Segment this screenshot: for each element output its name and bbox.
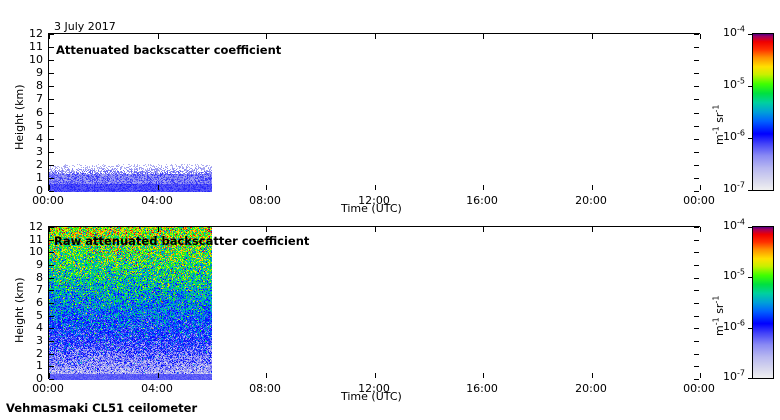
- y-tick-label: 6: [27, 297, 43, 308]
- y-tick-label: 5: [27, 120, 43, 131]
- x-tick-mark: [266, 185, 267, 190]
- y-tick-label: 7: [27, 284, 43, 295]
- y-tick-mark: [49, 303, 54, 304]
- y-tick-mark-right: [694, 113, 699, 114]
- y-tick-mark: [49, 354, 54, 355]
- y-tick-mark-right: [694, 191, 699, 192]
- y-tick-mark-right: [694, 328, 699, 329]
- y-tick-mark-right: [694, 379, 699, 380]
- x-tick-label: 00:00: [676, 195, 722, 206]
- y-tick-label: 3: [27, 146, 43, 157]
- x-tick-mark: [49, 185, 50, 190]
- x-tick-mark: [158, 373, 159, 378]
- colorbar-tick-mark: [748, 378, 753, 379]
- colorbar-tick-label: 10-5: [703, 79, 745, 90]
- x-tick-mark-top: [158, 34, 159, 39]
- colorbar-tick-mark: [748, 277, 753, 278]
- x-tick-label: 20:00: [568, 383, 614, 394]
- y-tick-mark: [49, 265, 54, 266]
- y-tick-mark: [49, 165, 54, 166]
- x-tick-mark-top: [266, 227, 267, 232]
- x-tick-label: 04:00: [134, 383, 180, 394]
- x-tick-label: 16:00: [459, 383, 505, 394]
- colorbar-tick-label: 10-7: [703, 183, 745, 194]
- x-tick-mark: [483, 373, 484, 378]
- colorbar2-gradient: [753, 227, 773, 378]
- panel1-title: Attenuated backscatter coefficient: [54, 44, 283, 58]
- x-tick-label: 12:00: [351, 195, 397, 206]
- y-tick-mark: [49, 73, 54, 74]
- y-tick-mark-right: [694, 252, 699, 253]
- panel2-heatmap-canvas: [49, 227, 701, 380]
- x-tick-mark-top: [700, 34, 701, 39]
- y-tick-mark: [49, 316, 54, 317]
- y-tick-label: 5: [27, 310, 43, 321]
- y-tick-mark: [49, 278, 54, 279]
- y-tick-mark: [49, 152, 54, 153]
- colorbar-tick-mark: [748, 190, 753, 191]
- colorbar-tick-mark: [748, 86, 753, 87]
- x-tick-label: 00:00: [25, 383, 71, 394]
- colorbar-tick-mark: [748, 34, 753, 35]
- x-tick-mark: [700, 373, 701, 378]
- x-tick-mark-top: [158, 227, 159, 232]
- y-tick-label: 8: [27, 80, 43, 91]
- colorbar-tick-mark: [748, 138, 753, 139]
- panel1-y-axis-title: Height (km): [14, 84, 25, 150]
- y-tick-label: 9: [27, 259, 43, 270]
- y-tick-mark: [49, 341, 54, 342]
- x-tick-mark: [375, 373, 376, 378]
- y-tick-label: 8: [27, 272, 43, 283]
- x-tick-label: 00:00: [25, 195, 71, 206]
- y-tick-label: 3: [27, 335, 43, 346]
- y-tick-mark: [49, 191, 54, 192]
- x-tick-mark-top: [266, 34, 267, 39]
- y-tick-mark: [49, 60, 54, 61]
- y-tick-label: 11: [27, 41, 43, 52]
- panel2-title: Raw attenuated backscatter coefficient: [54, 236, 309, 248]
- y-tick-mark-right: [694, 303, 699, 304]
- x-tick-mark: [158, 185, 159, 190]
- colorbar-tick-label: 10-4: [703, 220, 745, 231]
- y-tick-mark-right: [694, 290, 699, 291]
- y-tick-mark-right: [694, 265, 699, 266]
- y-tick-mark-right: [694, 240, 699, 241]
- y-tick-label: 2: [27, 348, 43, 359]
- y-tick-label: 12: [27, 28, 43, 39]
- x-tick-mark-top: [375, 34, 376, 39]
- colorbar-tick-label: 10-6: [703, 321, 745, 332]
- x-tick-label: 04:00: [134, 195, 180, 206]
- x-tick-label: 08:00: [242, 383, 288, 394]
- x-tick-mark-top: [49, 34, 50, 39]
- x-tick-mark: [49, 373, 50, 378]
- y-tick-mark: [49, 328, 54, 329]
- y-tick-mark-right: [694, 354, 699, 355]
- x-tick-mark-top: [700, 227, 701, 232]
- y-tick-mark-right: [694, 227, 699, 228]
- y-tick-label: 1: [27, 360, 43, 371]
- y-tick-mark-right: [694, 341, 699, 342]
- x-tick-mark-top: [592, 227, 593, 232]
- x-tick-mark-top: [483, 34, 484, 39]
- date-label: 3 July 2017: [54, 21, 116, 32]
- y-tick-mark-right: [694, 278, 699, 279]
- panel1-heatmap-canvas: [49, 34, 701, 192]
- y-tick-label: 10: [27, 54, 43, 65]
- y-tick-label: 4: [27, 133, 43, 144]
- x-tick-label: 00:00: [676, 383, 722, 394]
- x-tick-label: 16:00: [459, 195, 505, 206]
- y-tick-mark: [49, 366, 54, 367]
- y-tick-mark-right: [694, 99, 699, 100]
- y-tick-mark-right: [694, 139, 699, 140]
- y-tick-mark: [49, 178, 54, 179]
- x-tick-mark: [375, 185, 376, 190]
- y-tick-label: 6: [27, 107, 43, 118]
- panel2-y-axis-title: Height (km): [14, 277, 25, 343]
- x-tick-label: 08:00: [242, 195, 288, 206]
- colorbar-tick-label: 10-6: [703, 131, 745, 142]
- y-tick-mark-right: [694, 86, 699, 87]
- y-tick-mark-right: [694, 178, 699, 179]
- ceilometer-figure: 3 July 2017 Height (km) Attenuated backs…: [0, 0, 780, 420]
- x-tick-mark: [592, 373, 593, 378]
- y-tick-mark-right: [694, 316, 699, 317]
- y-tick-label: 2: [27, 159, 43, 170]
- y-tick-mark-right: [694, 126, 699, 127]
- y-tick-label: 12: [27, 221, 43, 232]
- y-tick-mark-right: [694, 165, 699, 166]
- colorbar-tick-label: 10-7: [703, 371, 745, 382]
- colorbar1-gradient: [753, 34, 773, 190]
- y-tick-mark-right: [694, 47, 699, 48]
- y-tick-mark: [49, 379, 54, 380]
- colorbar-tick-mark: [748, 328, 753, 329]
- colorbar-tick-label: 10-4: [703, 27, 745, 38]
- y-tick-label: 11: [27, 234, 43, 245]
- y-tick-label: 1: [27, 172, 43, 183]
- x-tick-mark: [592, 185, 593, 190]
- colorbar-tick-mark: [748, 227, 753, 228]
- panel2-plot-area: [48, 226, 700, 379]
- colorbar-tick-label: 10-5: [703, 270, 745, 281]
- x-tick-label: 20:00: [568, 195, 614, 206]
- x-tick-label: 12:00: [351, 383, 397, 394]
- x-tick-mark-top: [483, 227, 484, 232]
- y-tick-mark: [49, 99, 54, 100]
- y-tick-label: 9: [27, 67, 43, 78]
- x-tick-mark: [483, 185, 484, 190]
- y-tick-mark: [49, 290, 54, 291]
- x-tick-mark-top: [375, 227, 376, 232]
- y-tick-mark-right: [694, 366, 699, 367]
- y-tick-mark-right: [694, 34, 699, 35]
- y-tick-label: 4: [27, 322, 43, 333]
- x-tick-mark: [266, 373, 267, 378]
- y-tick-mark: [49, 252, 54, 253]
- y-tick-label: 10: [27, 246, 43, 257]
- y-tick-mark-right: [694, 60, 699, 61]
- x-tick-mark: [700, 185, 701, 190]
- y-tick-mark: [49, 126, 54, 127]
- y-tick-mark-right: [694, 152, 699, 153]
- x-tick-mark-top: [592, 34, 593, 39]
- y-tick-mark-right: [694, 73, 699, 74]
- x-tick-mark-top: [49, 227, 50, 232]
- y-tick-mark: [49, 113, 54, 114]
- figure-footer: Vehmasmaki CL51 ceilometer: [6, 403, 197, 415]
- y-tick-mark: [49, 86, 54, 87]
- y-tick-mark: [49, 139, 54, 140]
- y-tick-label: 7: [27, 93, 43, 104]
